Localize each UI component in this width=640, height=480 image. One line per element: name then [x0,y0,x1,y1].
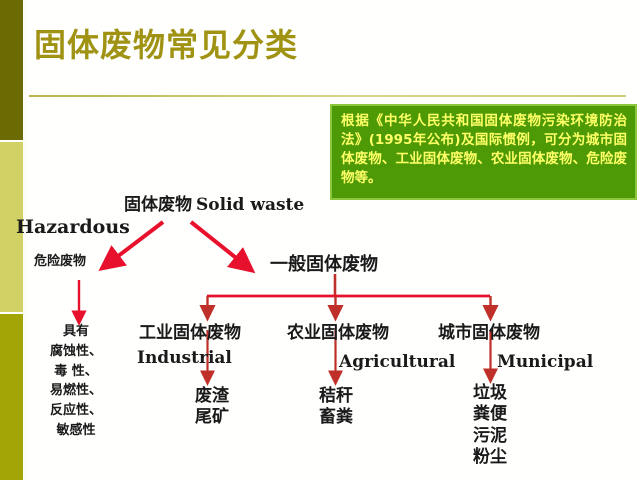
node-industrial-cn: 工业固体废物 [139,318,241,343]
node-agricultural-cn: 农业固体废物 [287,318,389,343]
decorative-band-mid [0,314,23,480]
node-agricultural-items: 秸秆 畜粪 [308,386,364,429]
decorative-band-gap [23,0,27,480]
node-hazardous-heading: Hazardous [16,216,130,238]
node-root-en: Solid waste [196,195,304,215]
title-divider [29,95,626,97]
node-municipal-cn: 城市固体废物 [438,318,540,343]
note-box-text: 根据《中华人民共和国固体废物污染环境防治法》(1995年公布)及国际惯例，可分为… [341,112,627,189]
node-industrial-items: 废渣 尾矿 [184,386,240,429]
node-root: 固体废物Solid waste [124,190,304,215]
node-hazardous-items: 具有 腐蚀性、 毒 性、 易燃性、 反应性、 敏感性 [34,322,118,441]
note-box: 根据《中华人民共和国固体废物污染环境防治法》(1995年公布)及国际惯例，可分为… [330,104,637,200]
node-municipal-items: 垃圾 粪便 污泥 粉尘 [462,383,518,468]
node-general-cn: 一般固体废物 [270,250,378,276]
node-hazardous-cn: 危险废物 [34,250,86,269]
node-agricultural-en: Agricultural [339,352,455,372]
page-title: 固体废物常见分类 [34,20,298,66]
slide-canvas: 固体废物常见分类 根据《中华人民共和国固体废物污染环境防治法》(1995年公布)… [0,0,640,480]
decorative-band-dark [0,0,23,140]
node-root-cn: 固体废物 [124,195,192,215]
node-municipal-en: Municipal [497,352,593,372]
node-industrial-en: Industrial [137,348,232,368]
